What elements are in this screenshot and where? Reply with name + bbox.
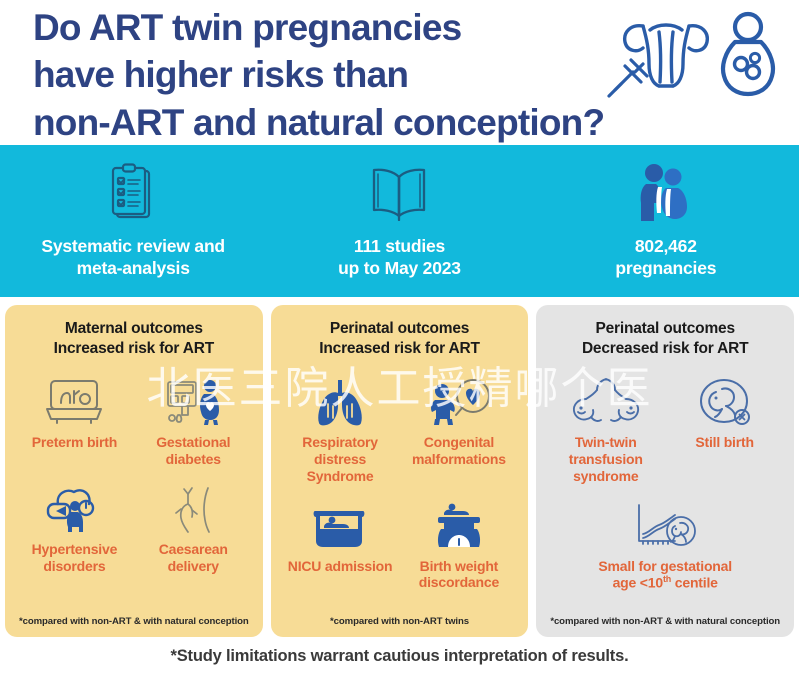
twin-fetuses-icon (567, 375, 645, 427)
outcome-line: Gestational (156, 434, 230, 451)
outcome-gestational-diabetes: Gestational diabetes (134, 371, 253, 478)
outcome-line: malformations (412, 451, 506, 468)
outcome-panels: Maternal outcomes Increased risk for ART (0, 297, 799, 637)
caesarean-scalpel-icon (162, 482, 224, 534)
outcome-preterm-birth-label: Preterm birth (32, 434, 117, 451)
study-limitations-note: *Study limitations warrant cautious inte… (171, 647, 629, 666)
nicu-cot-icon (309, 499, 371, 551)
outcome-line: NICU admission (288, 558, 393, 575)
superscript-th: th (663, 574, 671, 584)
outcome-small-for-gestational-age-label: Small for gestational age <10th centile (598, 558, 732, 592)
infographic-page: Do ART twin pregnancies have higher risk… (0, 0, 799, 684)
panel-perinatal-decreased: Perinatal outcomes Decreased risk for AR… (536, 305, 794, 637)
outcome-line: Congenital (412, 434, 506, 451)
header: Do ART twin pregnancies have higher risk… (0, 0, 799, 145)
outcome-hypertensive-disorders: Hypertensive disorders (15, 478, 134, 585)
outcome-nicu-admission: NICU admission (281, 495, 400, 602)
outcome-preterm-birth: Preterm birth (15, 371, 134, 478)
title-line-3: non-ART and natural conception? (33, 99, 593, 146)
baby-scale-icon (428, 499, 490, 551)
outcome-line: Twin-twin (569, 434, 643, 451)
incubator-icon (43, 375, 105, 427)
stat-line: Systematic review and (6, 236, 260, 258)
stillbirth-fetus-cross-icon (694, 375, 756, 427)
outcome-line: Hypertensive (32, 541, 118, 558)
outcome-hypertensive-disorders-label: Hypertensive disorders (32, 541, 118, 575)
outcome-line: Birth weight (419, 558, 499, 575)
outcome-gestational-diabetes-label: Gestational diabetes (156, 434, 230, 468)
footer: *Study limitations warrant cautious inte… (0, 637, 799, 676)
pregnant-woman-icon (723, 14, 773, 94)
outcome-line: Syndrome (283, 468, 398, 485)
title-line-2: have higher risks than (33, 51, 593, 98)
page-title: Do ART twin pregnancies have higher risk… (33, 4, 593, 146)
stat-line: pregnancies (539, 258, 793, 280)
outcome-line: disorders (32, 558, 118, 575)
growth-chart-fetus-icon (625, 499, 705, 551)
outcome-still-birth-label: Still birth (695, 434, 753, 451)
panel-maternal-increased-heading: Maternal outcomes Increased risk for ART (15, 319, 253, 359)
stat-studies-count: 111 studies up to May 2023 (266, 162, 532, 280)
two-pregnant-figures-icon (539, 162, 793, 224)
outcome-caesarean-delivery: Caesarean delivery (134, 478, 253, 585)
outcome-line: Respiratory distress (283, 434, 398, 468)
outcome-ttts-label: Twin-twin transfusion syndrome (569, 434, 643, 484)
outcome-line: Small for gestational (598, 558, 732, 575)
syringe-icon (609, 60, 647, 96)
stat-line: meta-analysis (6, 258, 260, 280)
outcome-line-with-superscript: age <10th centile (598, 574, 732, 591)
panel-heading-line: Increased risk for ART (281, 339, 519, 359)
outcome-line: Preterm birth (32, 434, 117, 451)
outcome-line: discordance (419, 574, 499, 591)
outcome-respiratory-distress-label: Respiratory distress Syndrome (283, 434, 398, 484)
stat-line: 802,462 (539, 236, 793, 258)
lungs-icon (310, 375, 370, 427)
stat-systematic-review: Systematic review and meta-analysis (0, 162, 266, 280)
panel-maternal-note: *compared with non-ART & with natural co… (15, 616, 253, 629)
outcome-still-birth: Still birth (665, 371, 784, 494)
panel-perinatal-increased: Perinatal outcomes Increased risk for AR… (271, 305, 529, 637)
header-icon-group (603, 6, 783, 101)
stats-band: Systematic review and meta-analysis (0, 145, 799, 297)
title-line-1: Do ART twin pregnancies (33, 4, 593, 51)
outcome-congenital-malformations-label: Congenital malformations (412, 434, 506, 468)
outcome-line: diabetes (156, 451, 230, 468)
panel-heading-line: Perinatal outcomes (281, 319, 519, 339)
outcome-birth-weight-discordance: Birth weight discordance (400, 495, 519, 602)
stat-studies-count-label: 111 studies up to May 2023 (272, 236, 526, 280)
panel-perinatal-increased-items: Respiratory distress Syndrome (281, 363, 519, 616)
outcome-line: delivery (159, 558, 228, 575)
open-book-icon (272, 162, 526, 224)
stat-systematic-review-label: Systematic review and meta-analysis (6, 236, 260, 280)
panel-perinatal-increased-heading: Perinatal outcomes Increased risk for AR… (281, 319, 519, 359)
panel-heading-line: Increased risk for ART (15, 339, 253, 359)
panel-maternal-increased: Maternal outcomes Increased risk for ART (5, 305, 263, 637)
stat-pregnancies-count-label: 802,462 pregnancies (539, 236, 793, 280)
outcome-birth-weight-discordance-label: Birth weight discordance (419, 558, 499, 592)
outcome-line: Still birth (695, 434, 753, 451)
stat-pregnancies-count: 802,462 pregnancies (533, 162, 799, 280)
outcome-ttts: Twin-twin transfusion syndrome (546, 371, 665, 494)
panel-perinatal-decreased-note: *compared with non-ART & with natural co… (546, 616, 784, 629)
panel-perinatal-decreased-items: Twin-twin transfusion syndrome (546, 363, 784, 616)
outcome-line: syndrome (569, 468, 643, 485)
blood-pressure-pregnant-icon (42, 482, 106, 534)
outcome-line-part: age <10 (613, 575, 663, 591)
outcome-line: transfusion (569, 451, 643, 468)
stat-line: 111 studies (272, 236, 526, 258)
outcome-respiratory-distress: Respiratory distress Syndrome (281, 371, 400, 494)
stat-line: up to May 2023 (272, 258, 526, 280)
panel-perinatal-increased-note: *compared with non-ART twins (281, 616, 519, 629)
glucose-meter-pregnant-icon (162, 375, 224, 427)
outcome-small-for-gestational-age: Small for gestational age <10th centile (546, 495, 784, 602)
panel-heading-line: Perinatal outcomes (546, 319, 784, 339)
outcome-caesarean-delivery-label: Caesarean delivery (159, 541, 228, 575)
panel-maternal-items: Preterm birth (15, 363, 253, 616)
outcome-nicu-admission-label: NICU admission (288, 558, 393, 575)
outcome-line: Caesarean (159, 541, 228, 558)
outcome-congenital-malformations: Congenital malformations (400, 371, 519, 494)
clipboard-checklist-icon (6, 162, 260, 224)
panel-heading-line: Maternal outcomes (15, 319, 253, 339)
panel-heading-line: Decreased risk for ART (546, 339, 784, 359)
panel-perinatal-decreased-heading: Perinatal outcomes Decreased risk for AR… (546, 319, 784, 359)
baby-heart-icon (426, 375, 492, 427)
